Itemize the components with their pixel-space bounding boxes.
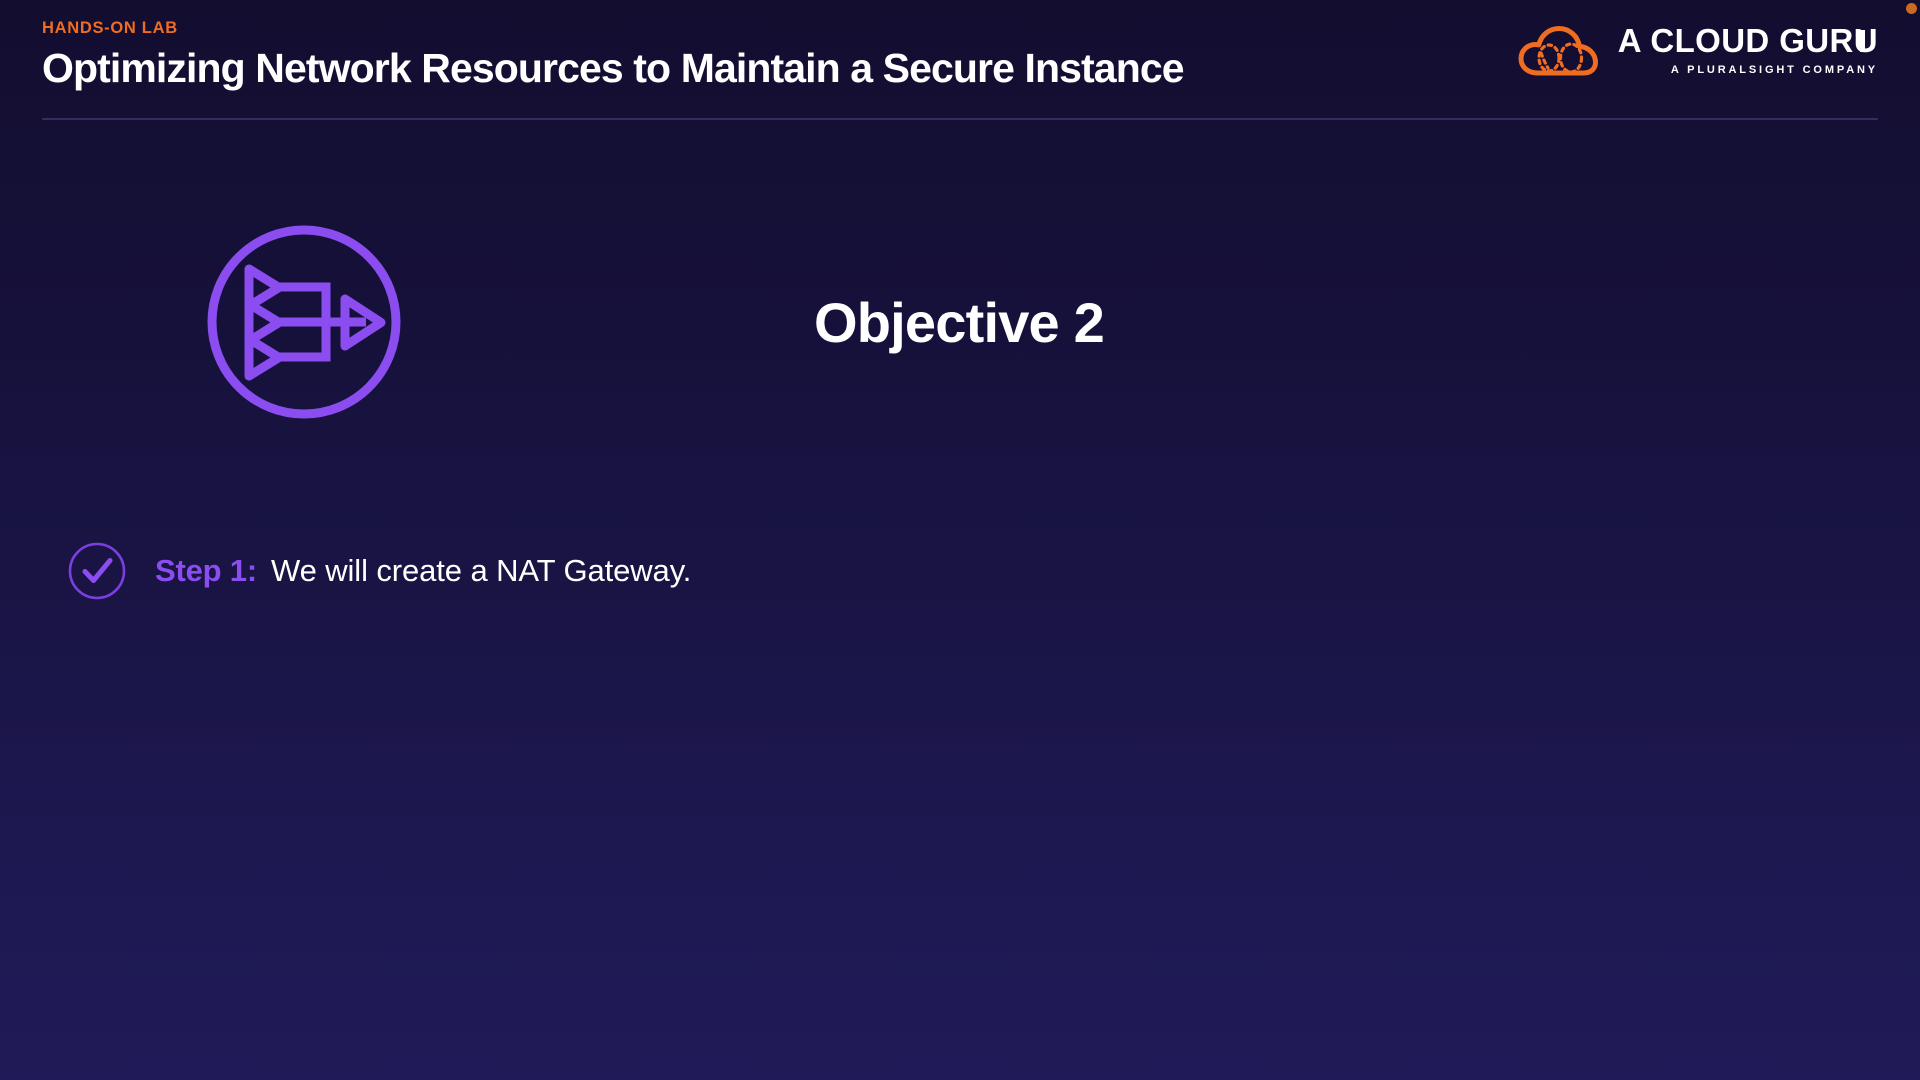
check-circle-icon [66,540,128,602]
brand-logo: A CLOUD GURU A PLURALSIGHT COMPANY [1518,22,1878,78]
page-title: Optimizing Network Resources to Maintain… [42,47,1184,90]
brand-wordmark: A CLOUD GURU A PLURALSIGHT COMPANY [1618,24,1878,77]
step-label: Step 1: [155,553,257,588]
eyebrow-label: HANDS-ON LAB [42,20,1184,37]
header-divider [42,118,1878,120]
step-item: Step 1:We will create a NAT Gateway. [66,540,691,602]
step-text: Step 1:We will create a NAT Gateway. [155,552,691,591]
step-description: We will create a NAT Gateway. [271,553,691,588]
header-text-block: HANDS-ON LAB Optimizing Network Resource… [42,20,1184,90]
brand-name: A CLOUD GURU [1618,24,1878,59]
slide-canvas: HANDS-ON LAB Optimizing Network Resource… [0,0,1920,1080]
brand-tagline: A PLURALSIGHT COMPANY [1671,65,1878,76]
edge-marker-bar [1860,30,1865,52]
corner-dot-indicator [1906,3,1917,14]
objective-heading: Objective 2 [0,295,1919,351]
cloud-icon [1518,22,1600,78]
slide-header: HANDS-ON LAB Optimizing Network Resource… [0,0,1920,122]
